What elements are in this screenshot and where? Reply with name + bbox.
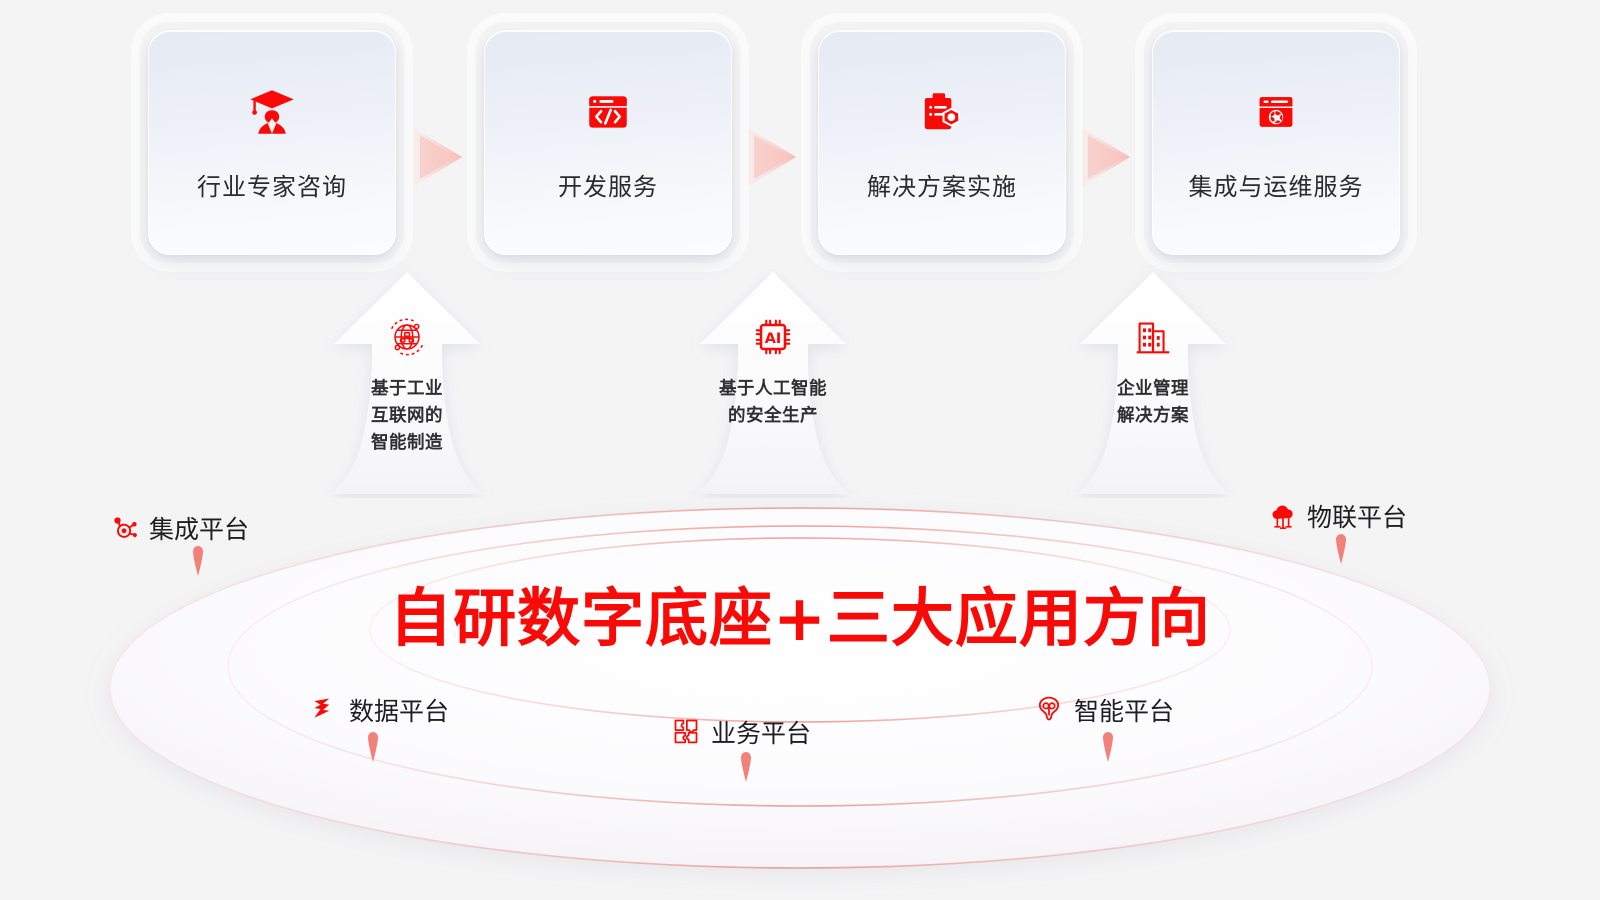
process-card-3[interactable]: 解决方案实施 [818, 30, 1066, 255]
process-card-label: 解决方案实施 [867, 167, 1017, 202]
platform-integration[interactable]: 集成平台 [110, 510, 249, 546]
puzzle-icon [672, 717, 702, 747]
platform-label: 业务平台 [711, 714, 811, 750]
process-card-label: 集成与运维服务 [1189, 167, 1364, 202]
globe-network-icon [384, 314, 430, 360]
platform-iot[interactable]: 物联平台 [1268, 498, 1407, 534]
platform-intelligent[interactable]: 智能平台 [1035, 692, 1174, 728]
chevron-right-icon [412, 126, 470, 188]
pin-marker [738, 748, 754, 784]
brain-icon [1035, 695, 1065, 725]
pillar-text: 基于人工智能 的安全生产 [719, 376, 827, 430]
pillar-1[interactable]: 基于工业 互联网的 智能制造 [292, 258, 522, 498]
pin-marker [1333, 530, 1349, 566]
graduation-cap-icon [243, 83, 301, 141]
platform-label: 集成平台 [149, 510, 249, 546]
process-card-1[interactable]: 行业专家咨询 [148, 30, 396, 255]
svg-text:AI: AI [765, 331, 781, 347]
ai-chip-icon: AI [750, 314, 796, 360]
platform-data[interactable]: 数据平台 [310, 692, 449, 728]
platform-label: 智能平台 [1074, 692, 1174, 728]
foundation-title: 自研数字底座+三大应用方向 [0, 568, 1600, 659]
process-card-4[interactable]: 集成与运维服务 [1152, 30, 1400, 255]
pin-marker [190, 542, 206, 578]
chevron-right-icon [746, 126, 804, 188]
buildings-icon [1130, 314, 1176, 360]
iot-cloud-icon [1268, 501, 1298, 531]
process-card-label: 开发服务 [558, 167, 658, 202]
process-card-label: 行业专家咨询 [197, 167, 347, 202]
pillar-text: 企业管理 解决方案 [1117, 376, 1189, 430]
chevron-right-icon [1080, 126, 1138, 188]
pin-marker [1100, 728, 1116, 764]
process-cards-row: 行业专家咨询 [0, 0, 1600, 270]
browser-globe-icon [1247, 83, 1305, 141]
data-stack-icon [310, 695, 340, 725]
foundation-base: 自研数字底座+三大应用方向 [0, 470, 1600, 900]
pillar-3[interactable]: 企业管理 解决方案 [1038, 258, 1268, 498]
code-window-icon [579, 83, 637, 141]
platform-business[interactable]: 业务平台 [672, 714, 811, 750]
pillar-text: 基于工业 互联网的 智能制造 [371, 376, 443, 457]
pin-marker [365, 728, 381, 764]
clipboard-gear-icon [913, 83, 971, 141]
infographic-canvas: 行业专家咨询 [0, 0, 1600, 900]
process-card-2[interactable]: 开发服务 [484, 30, 732, 255]
pillars-row: 基于工业 互联网的 智能制造 [0, 258, 1600, 498]
node-network-icon [110, 513, 140, 543]
pillar-2[interactable]: AI 基于人工智能 的安全生产 [658, 258, 888, 498]
platform-label: 数据平台 [349, 692, 449, 728]
platform-label: 物联平台 [1307, 498, 1407, 534]
